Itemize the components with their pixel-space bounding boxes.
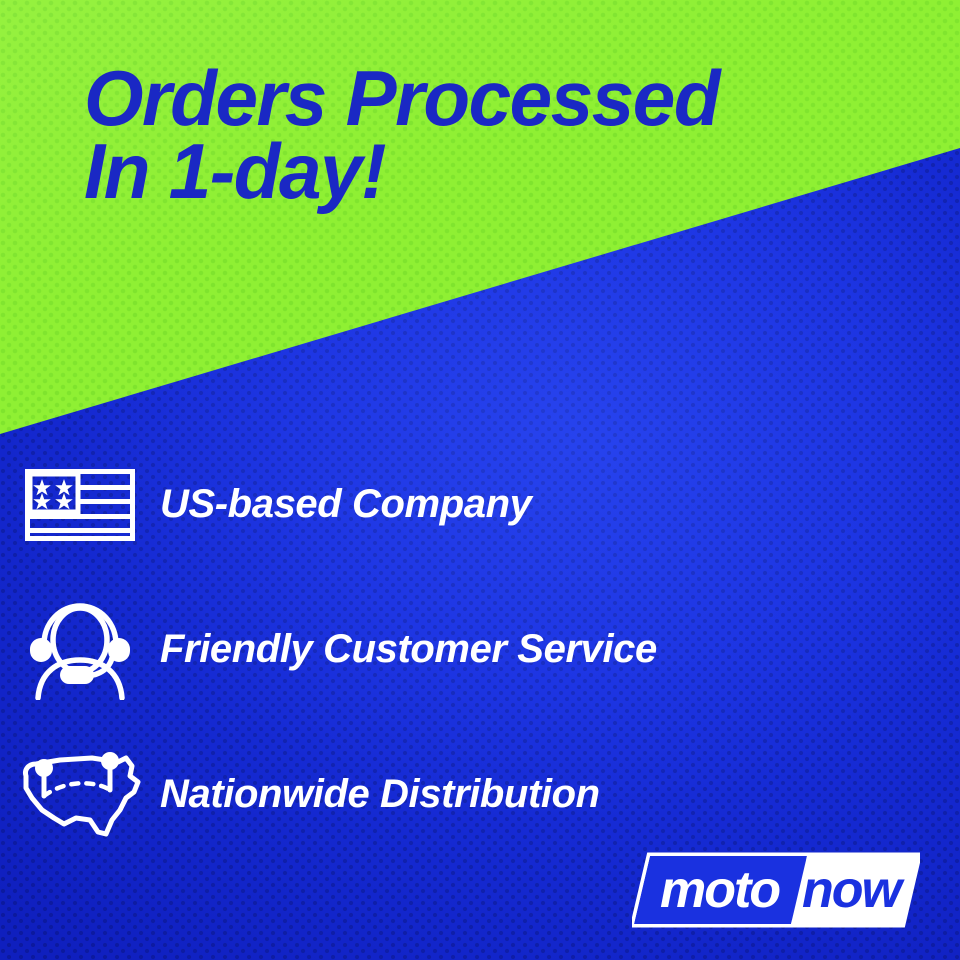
motonow-logo[interactable]: moto now	[632, 852, 920, 928]
feature-row: Nationwide Distribution	[0, 722, 960, 867]
us-map-pins-icon	[0, 748, 160, 842]
logo-word-right: now	[802, 861, 906, 919]
feature-list: US-based Company	[0, 432, 960, 867]
promo-banner: Orders Processed In 1-day!	[0, 0, 960, 960]
us-flag-icon	[0, 468, 160, 542]
logo-word-left: moto	[660, 861, 780, 919]
feature-label: US-based Company	[160, 482, 531, 527]
headset-support-icon	[0, 600, 160, 700]
feature-row: US-based Company	[0, 432, 960, 577]
feature-label: Nationwide Distribution	[160, 772, 600, 817]
feature-row: Friendly Customer Service	[0, 577, 960, 722]
feature-label: Friendly Customer Service	[160, 627, 657, 672]
headline: Orders Processed In 1-day!	[84, 62, 907, 207]
